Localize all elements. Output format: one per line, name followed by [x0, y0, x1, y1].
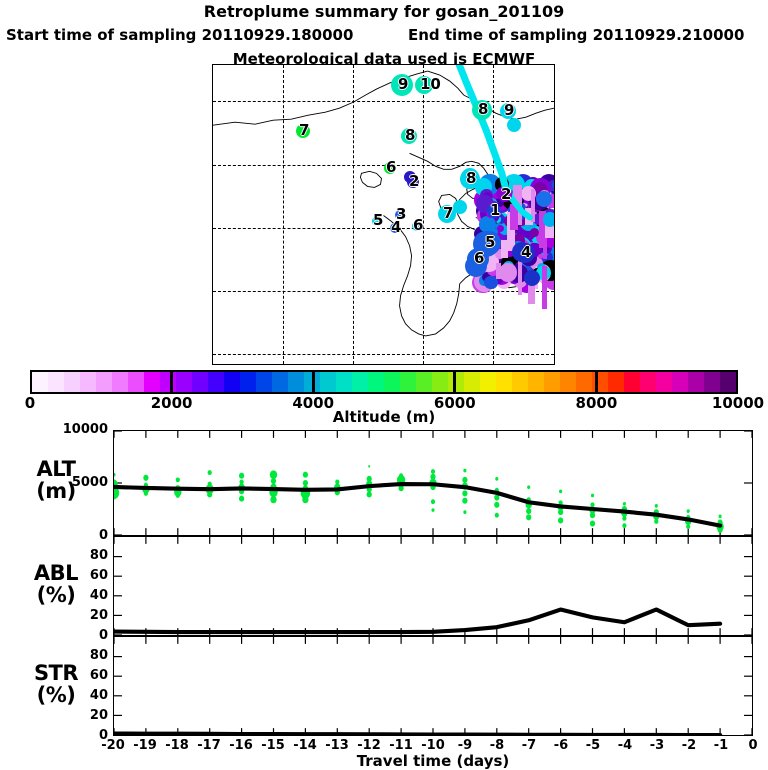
abl-plot-panel[interactable] — [113, 536, 753, 636]
colorbar-swatch — [288, 372, 304, 392]
map-day-label: 6 — [386, 160, 396, 175]
colorbar-swatch — [32, 372, 48, 392]
alt-scatter-point — [462, 498, 467, 504]
alt-scatter-point — [590, 521, 595, 527]
colorbar-swatch — [160, 372, 176, 392]
alt-scatter-point — [463, 469, 466, 473]
map-day-label: 8 — [478, 102, 488, 117]
str-plot-panel[interactable] — [113, 636, 753, 736]
map-day-label: 10 — [420, 77, 441, 92]
map-day-label: 8 — [405, 128, 415, 143]
colorbar-swatch — [224, 372, 240, 392]
colorbar-swatch — [64, 372, 80, 392]
colorbar-swatch — [208, 372, 224, 392]
alt-scatter-point — [303, 472, 308, 478]
x-tick-label: 0 — [733, 738, 768, 753]
y-tick-label: 20 — [40, 608, 108, 623]
y-tick-label: 10000 — [40, 422, 108, 437]
colorbar-swatch — [256, 372, 272, 392]
y-tick-label: 40 — [40, 688, 108, 703]
alt-scatter-point — [495, 513, 499, 518]
y-tick-label: 5000 — [40, 475, 108, 490]
colorbar-swatch — [512, 372, 528, 392]
alt-scatter-point — [176, 477, 180, 482]
alt-scatter-point — [463, 510, 466, 514]
colorbar-swatch — [384, 372, 400, 392]
colorbar-swatch — [352, 372, 368, 392]
alt-scatter-point — [719, 514, 722, 518]
colorbar-swatch — [80, 372, 96, 392]
colorbar-swatch — [640, 372, 656, 392]
y-tick-label: 0 — [40, 628, 108, 643]
colorbar-swatch — [400, 372, 416, 392]
alt-scatter-point — [239, 496, 244, 502]
alt-scatter-point — [143, 475, 148, 481]
alt-scatter-point — [176, 493, 180, 498]
colorbar-caption: Altitude (m) — [0, 408, 768, 426]
alt-scatter-point — [302, 496, 308, 503]
alt-scatter-point — [303, 480, 308, 486]
alt-scatter-point — [526, 514, 531, 520]
colorbar-divider — [170, 370, 173, 394]
colorbar-swatch — [128, 372, 144, 392]
alt-scatter-point — [622, 516, 626, 521]
map-day-label: 6 — [474, 251, 484, 266]
colorbar-swatch — [528, 372, 544, 392]
y-tick-label: 60 — [40, 568, 108, 583]
alt-plot-panel[interactable] — [113, 430, 753, 536]
map-day-label: 1 — [490, 203, 500, 218]
colorbar-divider — [312, 370, 315, 394]
alt-scatter-point — [271, 478, 276, 484]
colorbar-swatch — [144, 372, 160, 392]
map-day-label: 6 — [413, 218, 423, 233]
alt-scatter-point — [590, 512, 595, 518]
alt-scatter-point — [462, 477, 467, 483]
y-tick-label: 40 — [40, 588, 108, 603]
colorbar-swatch — [704, 372, 720, 392]
map-day-label: 8 — [466, 171, 476, 186]
colorbar-swatch — [624, 372, 640, 392]
alt-scatter-point — [270, 470, 277, 479]
map-day-labels: 91089786287534612564 — [213, 65, 554, 364]
colorbar-swatch — [720, 372, 736, 392]
y-tick-label: 60 — [40, 668, 108, 683]
colorbar-swatch — [320, 372, 336, 392]
colorbar-swatch — [416, 372, 432, 392]
map-day-label: 9 — [504, 103, 514, 118]
colorbar-swatch — [240, 372, 256, 392]
map-day-label: 5 — [485, 235, 495, 250]
map-day-label: 7 — [443, 206, 453, 221]
colorbar-swatch — [192, 372, 208, 392]
colorbar-swatch — [464, 372, 480, 392]
end-time-label: End time of sampling 20110929.210000 — [408, 26, 744, 44]
colorbar-swatch — [96, 372, 112, 392]
colorbar-swatch — [48, 372, 64, 392]
alt-scatter-point — [494, 502, 499, 508]
colorbar-swatch — [672, 372, 688, 392]
alt-scatter-point — [591, 494, 594, 498]
alt-scatter-point — [367, 491, 372, 497]
alt-scatter-point — [431, 508, 434, 512]
colorbar-swatch — [656, 372, 672, 392]
y-tick-label: 20 — [40, 708, 108, 723]
x-axis-title: Travel time (days) — [113, 752, 753, 770]
colorbar-swatch — [112, 372, 128, 392]
start-time-label: Start time of sampling 20110929.180000 — [6, 26, 353, 44]
colorbar-swatch — [336, 372, 352, 392]
y-tick-label: 80 — [40, 648, 108, 663]
colorbar-swatch — [576, 372, 592, 392]
y-tick-label: 0 — [40, 528, 108, 543]
alt-scatter-point — [526, 508, 531, 514]
retroplume-map[interactable]: 91089786287534612564 — [212, 64, 555, 365]
alt-scatter-point — [559, 489, 562, 493]
alt-scatter-point — [527, 485, 530, 489]
map-day-label: 2 — [501, 187, 511, 202]
map-day-label: 4 — [521, 245, 531, 260]
alt-scatter-point — [239, 473, 244, 479]
alt-scatter-point — [655, 504, 658, 508]
colorbar-swatch — [544, 372, 560, 392]
alt-scatter-point — [431, 499, 435, 504]
colorbar-swatch — [432, 372, 448, 392]
colorbar-swatch — [688, 372, 704, 392]
colorbar-divider — [595, 370, 598, 394]
colorbar-swatch — [560, 372, 576, 392]
alt-scatter-point — [368, 465, 370, 467]
colorbar-swatch — [496, 372, 512, 392]
alt-scatter-point — [622, 523, 626, 528]
alt-scatter-point — [207, 491, 212, 497]
alt-scatter-point — [114, 473, 116, 477]
colorbar-swatch — [608, 372, 624, 392]
alt-scatter-point — [208, 470, 212, 475]
map-day-label: 5 — [373, 213, 383, 228]
alt-scatter-point — [558, 509, 563, 515]
map-day-label: 7 — [299, 123, 309, 138]
alt-scatter-point — [431, 469, 435, 474]
alt-scatter-point — [687, 509, 690, 513]
alt-scatter-point — [462, 490, 467, 496]
alt-scatter-point — [654, 519, 658, 524]
map-day-label: 2 — [409, 174, 419, 189]
alt-scatter-point — [144, 491, 148, 496]
y-tick-label: 80 — [40, 548, 108, 563]
page-title: Retroplume summary for gosan_201109 — [0, 2, 768, 21]
alt-scatter-point — [495, 477, 498, 481]
colorbar-swatch — [272, 372, 288, 392]
colorbar-swatch — [480, 372, 496, 392]
alt-scatter-point — [686, 524, 690, 529]
alt-scatter-point — [558, 517, 563, 523]
colorbar-divider — [453, 370, 456, 394]
alt-scatter-point — [623, 502, 626, 506]
colorbar-swatch — [176, 372, 192, 392]
map-day-label: 9 — [398, 77, 408, 92]
altitude-colorbar — [30, 370, 738, 394]
map-day-label: 4 — [391, 220, 401, 235]
alt-scatter-point — [270, 496, 276, 503]
colorbar-swatch — [368, 372, 384, 392]
